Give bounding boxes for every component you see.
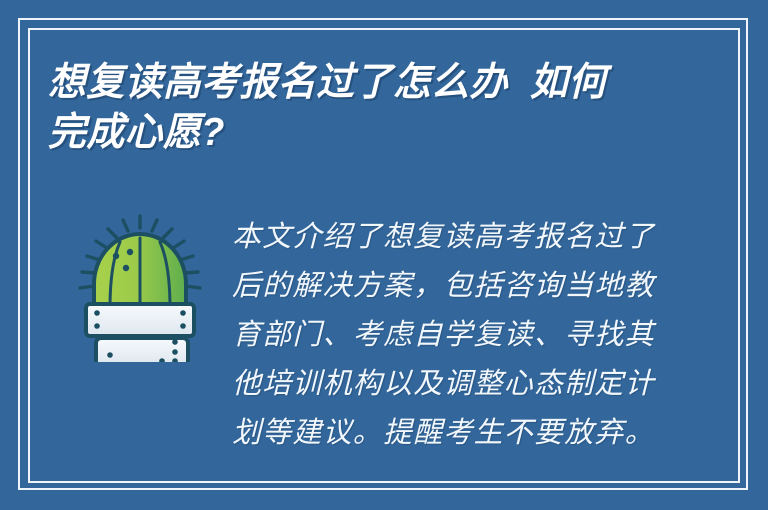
cactus-icon [72,212,212,362]
summary-line-2: 后的解决方案，包括咨询当地教 [232,261,647,310]
title-line-1: 想复读高考报名过了怎么办 如何 [48,58,659,108]
summary-line-5: 划等建议。提醒考生不要放弃。 [232,408,647,457]
summary-line-3: 育部门、考虑自学复读、寻找其 [232,310,647,359]
summary-line-4: 他培训机构以及调整心态制定计 [232,359,647,408]
page-title: 想复读高考报名过了怎么办 如何 完成心愿? [48,58,678,158]
summary-line-1: 本文介绍了想复读高考报名过了 [232,212,647,261]
article-cover-card: 想复读高考报名过了怎么办 如何 完成心愿? [0,0,768,510]
title-line-2: 完成心愿? [48,108,659,158]
pot-rim [86,304,194,336]
article-summary: 本文介绍了想复读高考报名过了 后的解决方案，包括咨询当地教 育部门、考虑自学复读… [232,212,647,457]
